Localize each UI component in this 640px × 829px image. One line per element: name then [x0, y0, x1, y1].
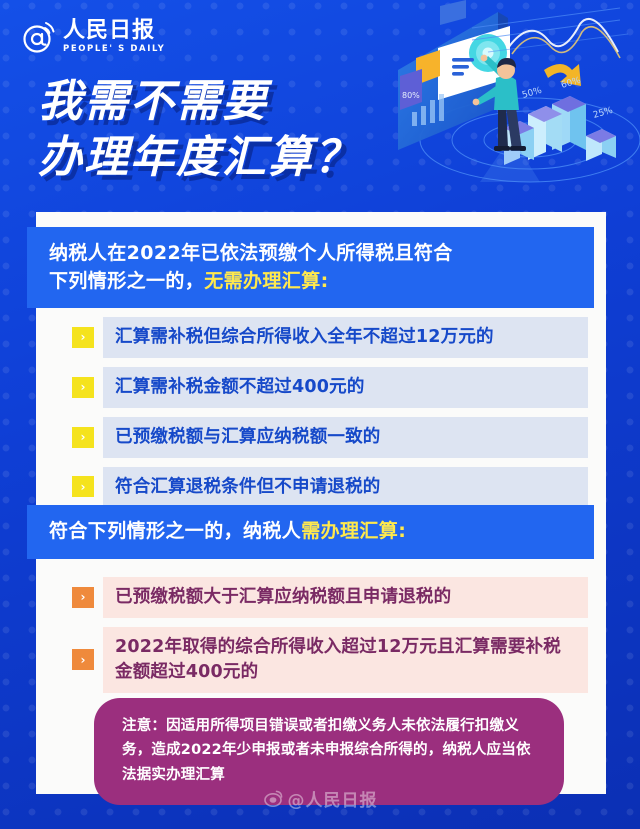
list-item-text: 符合汇算退税条件但不申请退税的: [103, 467, 588, 508]
section-1-heading-accent: 无需办理汇算:: [204, 270, 328, 292]
chevron-right-icon: ›: [72, 476, 94, 497]
page-title: 我需不需要 办理年度汇算？: [38, 74, 360, 187]
section-2-heading-accent: 需办理汇算:: [301, 520, 406, 542]
section-2-heading-line-1: 符合下列情形之一的，纳税人需办理汇算:: [49, 518, 594, 546]
must-file-condition-list: › 已预缴税额大于汇算应纳税额且申请退税的 › 2022年取得的综合所得收入超过…: [36, 577, 606, 702]
list-item-text: 汇算需补税但综合所得收入全年不超过12万元的: [103, 317, 588, 358]
chart-label-25: 25%: [592, 106, 614, 121]
chevron-right-icon: ›: [72, 327, 94, 348]
section-heading-must-file: 符合下列情形之一的，纳税人需办理汇算:: [27, 505, 594, 559]
section-2-heading-prefix: 符合下列情形之一的，纳税人: [49, 520, 301, 542]
data-dashboard-illustration: 50% 60% 25% 80%: [380, 0, 640, 200]
chart-label-80: 80%: [402, 91, 420, 100]
list-item: › 汇算需补税金额不超过400元的: [72, 367, 588, 408]
chevron-right-icon: ›: [72, 649, 94, 670]
list-item-text: 已预缴税额大于汇算应纳税额且申请退税的: [103, 577, 588, 618]
at-sign-icon: [22, 20, 56, 54]
page-title-line-2: 办理年度汇算？: [38, 130, 360, 186]
list-item-text: 2022年取得的综合所得收入超过12万元且汇算需要补税金额超过400元的: [103, 627, 588, 693]
list-item-text: 已预缴税额与汇算应纳税额一致的: [103, 417, 588, 458]
list-item: › 已预缴税额大于汇算应纳税额且申请退税的: [72, 577, 588, 618]
section-heading-no-filing: 纳税人在2022年已依法预缴个人所得税且符合 下列情形之一的，无需办理汇算:: [27, 227, 594, 308]
list-item: › 已预缴税额与汇算应纳税额一致的: [72, 417, 588, 458]
list-item: › 符合汇算退税条件但不申请退税的: [72, 467, 588, 508]
section-1-heading-line-2: 下列情形之一的，无需办理汇算:: [49, 268, 594, 296]
brand-lockup: 人民日报 PEOPLE' S DAILY: [63, 20, 165, 54]
chevron-right-icon: ›: [72, 377, 94, 398]
infographic-poster: 人民日报 PEOPLE' S DAILY 我需不需要 办理年度汇算？: [0, 0, 640, 829]
note-text: 注意：因适用所得项目错误或者扣缴义务人未依法履行扣缴义务，造成2022年少申报或…: [122, 714, 540, 787]
no-filing-condition-list: › 汇算需补税但综合所得收入全年不超过12万元的 › 汇算需补税金额不超过400…: [36, 317, 606, 516]
list-item: › 汇算需补税但综合所得收入全年不超过12万元的: [72, 317, 588, 358]
section-1-heading-prefix: 下列情形之一的，: [49, 270, 204, 292]
watermark-text: @人民日报: [288, 786, 378, 811]
list-item: › 2022年取得的综合所得收入超过12万元且汇算需要补税金额超过400元的: [72, 627, 588, 693]
chart-label-60: 60%: [560, 76, 582, 91]
section-1-heading-line-1: 纳税人在2022年已依法预缴个人所得税且符合: [49, 240, 594, 268]
weibo-eye-icon: [263, 789, 283, 809]
brand-name-cn: 人民日报: [63, 20, 165, 42]
content-card: 纳税人在2022年已依法预缴个人所得税且符合 下列情形之一的，无需办理汇算: ›…: [36, 212, 606, 794]
brand-name-en: PEOPLE' S DAILY: [63, 45, 165, 54]
page-title-line-1: 我需不需要: [38, 74, 360, 130]
watermark: @人民日报: [0, 786, 640, 811]
chevron-right-icon: ›: [72, 427, 94, 448]
chevron-right-icon: ›: [72, 587, 94, 608]
brand-masthead: 人民日报 PEOPLE' S DAILY: [22, 20, 165, 54]
list-item-text: 汇算需补税金额不超过400元的: [103, 367, 588, 408]
